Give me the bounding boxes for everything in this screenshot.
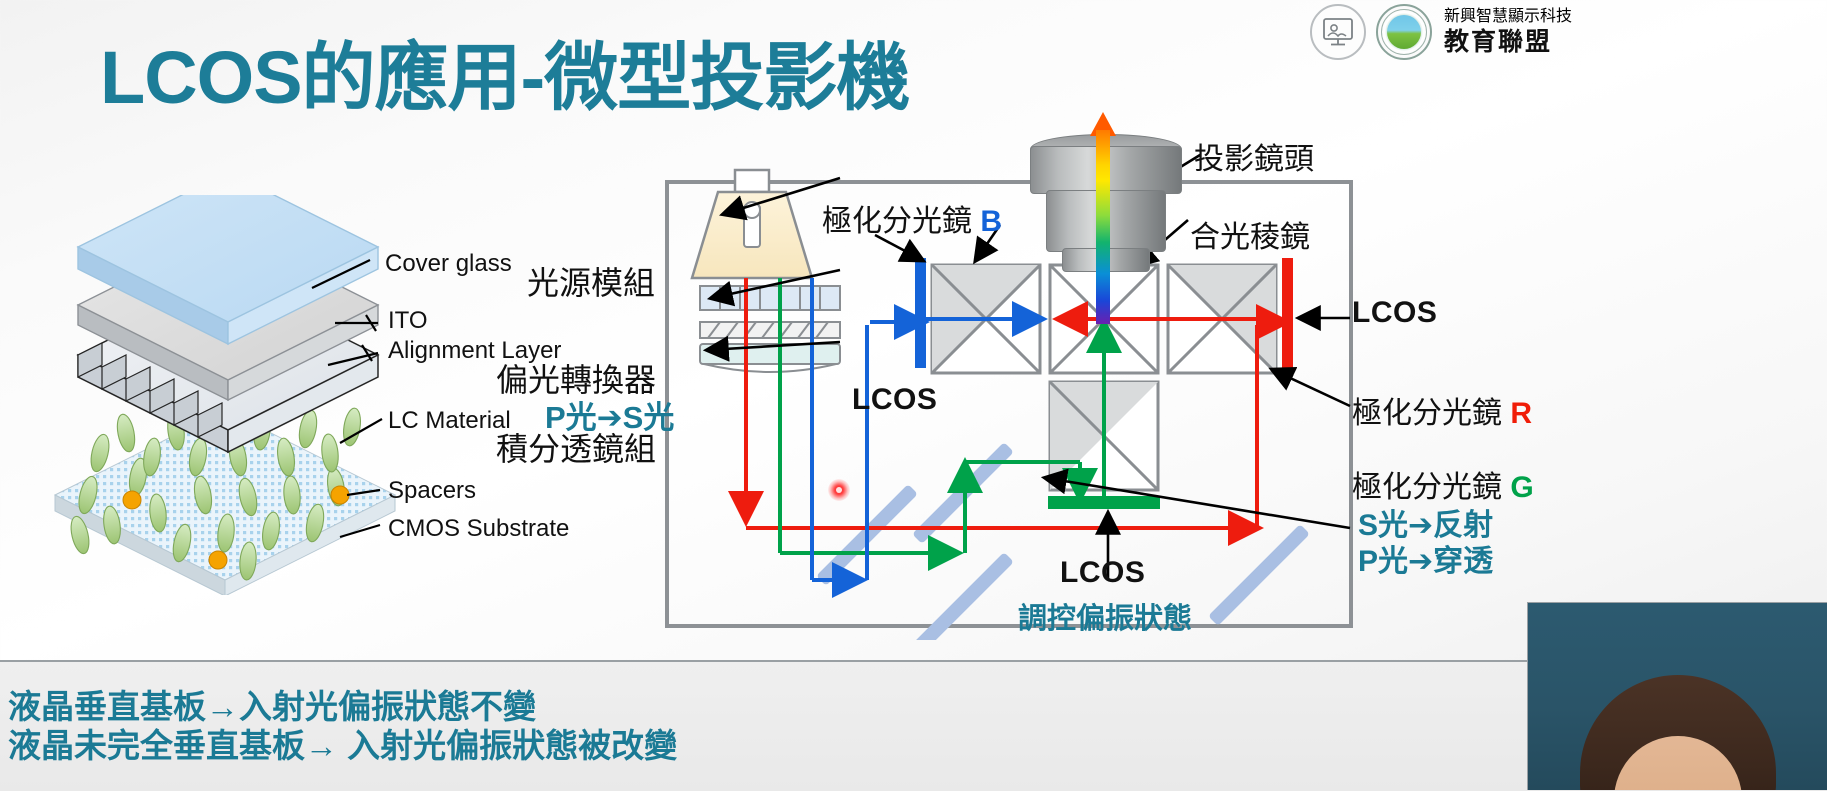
label-combining-prism: 合光稜鏡 xyxy=(1190,212,1310,256)
webcam-video-thumbnail[interactable] xyxy=(1527,602,1827,790)
note-left-block: 液晶垂直基板→入射光偏振狀態不變 液晶未完全垂直基板→ 入射光偏振狀態被改變 xyxy=(8,688,677,766)
mouse-cursor-highlight xyxy=(828,479,850,501)
stack-label-ito: ITO xyxy=(388,307,428,335)
label-integrator-lens: 積分透鏡組 xyxy=(496,424,656,470)
label-lcos-left: LCOS xyxy=(852,383,937,417)
caption-modulate-polarization: 調控偏振狀態 xyxy=(1018,595,1192,637)
label-pbs-r: 極化分光鏡 R xyxy=(1352,388,1532,432)
note-left-line-2: 液晶未完全垂直基板→ 入射光偏振狀態被改變 xyxy=(8,727,677,766)
note-left-line-1: 液晶垂直基板→入射光偏振狀態不變 xyxy=(8,688,677,727)
label-pbs-b: 極化分光鏡 B xyxy=(822,196,1002,240)
stack-label-cmos: CMOS Substrate xyxy=(388,515,569,543)
page-title: LCOS的應用-微型投影機 xyxy=(100,18,909,125)
stack-label-cover-glass: Cover glass xyxy=(385,250,512,278)
note-right-block: S光➔反射 P光➔穿透 xyxy=(1358,508,1493,580)
note-right-line-1: S光➔反射 xyxy=(1358,508,1493,544)
note-right-line-2: P光➔穿透 xyxy=(1358,544,1493,580)
brand-line-1: 新興智慧顯示科技 xyxy=(1444,9,1572,26)
lcos-stack-figure: Cover glass ITO Alignment Layer LC Mater… xyxy=(40,195,560,595)
brand-line-2: 教育聯盟 xyxy=(1444,29,1572,55)
ministry-of-education-seal-icon xyxy=(1376,4,1432,60)
output-light-rainbow-arrow xyxy=(1094,112,1112,324)
brand-block: 新興智慧顯示科技 教育聯盟 xyxy=(1310,4,1572,60)
optical-engine-diagram xyxy=(660,110,1360,640)
stack-label-spacers: Spacers xyxy=(388,477,476,505)
label-light-source-module: 光源模組 xyxy=(527,258,655,304)
label-projection-lens: 投影鏡頭 xyxy=(1194,134,1314,178)
label-pbs-g: 極化分光鏡 G xyxy=(1352,462,1534,506)
label-lcos-right: LCOS xyxy=(1352,296,1437,330)
label-lcos-bottom: LCOS xyxy=(1060,556,1145,590)
brand-text: 新興智慧顯示科技 教育聯盟 xyxy=(1442,9,1572,55)
stack-label-lc-material: LC Material xyxy=(388,407,511,435)
presentation-monitor-icon xyxy=(1310,4,1366,60)
